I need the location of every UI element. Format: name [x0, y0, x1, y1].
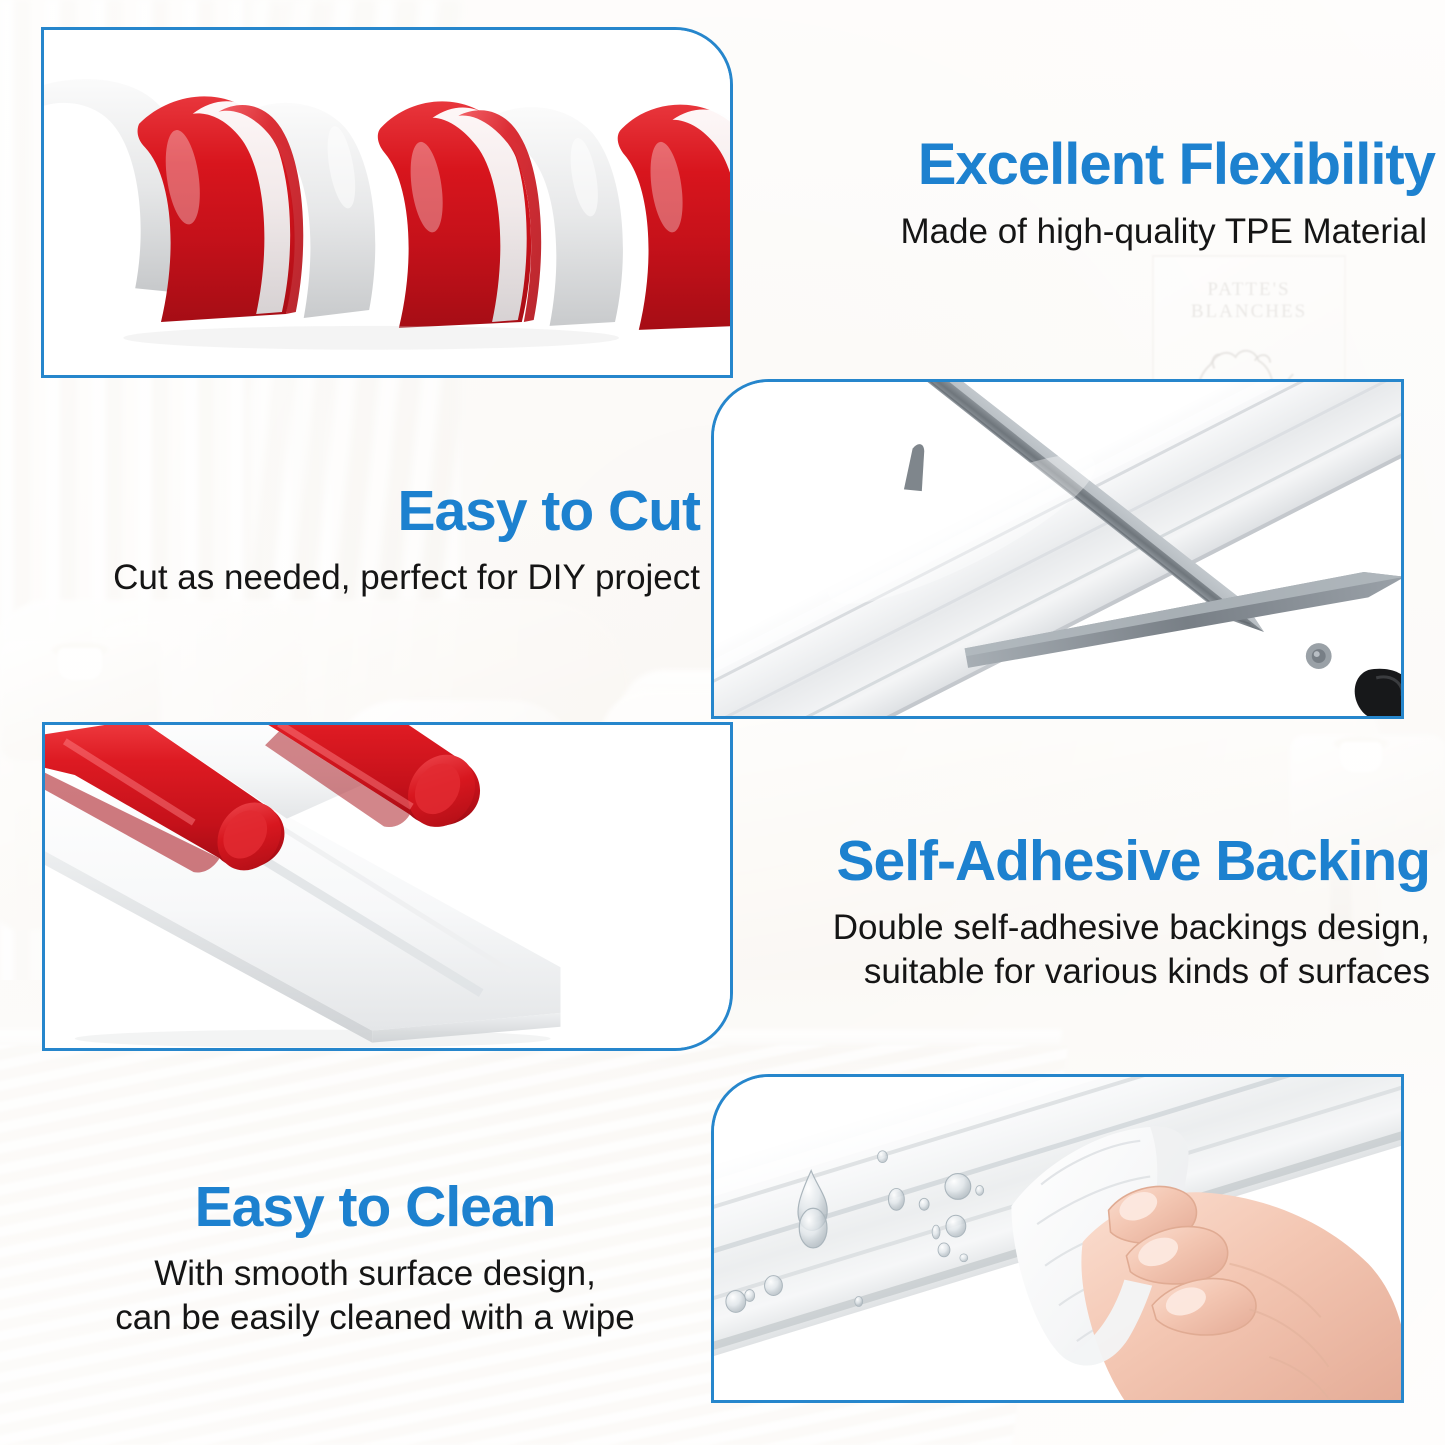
subline-cutting: Cut as needed, perfect for DIY project: [10, 556, 700, 600]
wiping-hand-icon: [714, 1077, 1401, 1400]
headline-adhesive: Self-Adhesive Backing: [740, 832, 1430, 892]
feature-text-adhesive: Self-Adhesive Backing Double self-adhesi…: [740, 832, 1430, 995]
headline-cleaning: Easy to Clean: [55, 1178, 695, 1238]
subline-cleaning: With smooth surface design, can be easil…: [55, 1252, 695, 1341]
adhesive-liner-icon: [45, 725, 730, 1048]
coiled-strip-icon: [44, 30, 730, 375]
feature-text-cutting: Easy to Cut Cut as needed, perfect for D…: [10, 482, 700, 600]
subline-cleaning-line-2: can be easily cleaned with a wipe: [55, 1296, 695, 1340]
feature-text-flexibility: Excellent Flexibility Made of high-quali…: [735, 135, 1435, 254]
cleaning-photo: [714, 1077, 1401, 1400]
subline-flexibility: Made of high-quality TPE Material: [735, 210, 1435, 254]
subline-adhesive: Double self-adhesive backings design, su…: [740, 906, 1430, 995]
cutting-photo: [714, 382, 1401, 716]
feature-image-panel-cutting: [711, 379, 1404, 719]
flexibility-photo: [44, 30, 730, 375]
subline-adhesive-line-1: Double self-adhesive backings design,: [740, 906, 1430, 950]
headline-flexibility: Excellent Flexibility: [735, 135, 1435, 196]
scissors-icon: [714, 382, 1401, 716]
feature-text-cleaning: Easy to Clean With smooth surface design…: [55, 1178, 695, 1341]
product-feature-infographic: PATTE'S BLANCHES: [0, 0, 1445, 1445]
feature-image-panel-flexibility: [41, 27, 733, 378]
adhesive-photo: [45, 725, 730, 1048]
subline-cleaning-line-1: With smooth surface design,: [55, 1252, 695, 1296]
subline-adhesive-line-2: suitable for various kinds of surfaces: [740, 950, 1430, 994]
headline-cutting: Easy to Cut: [10, 482, 700, 542]
feature-image-panel-cleaning: [711, 1074, 1404, 1403]
feature-image-panel-adhesive: [42, 722, 733, 1051]
